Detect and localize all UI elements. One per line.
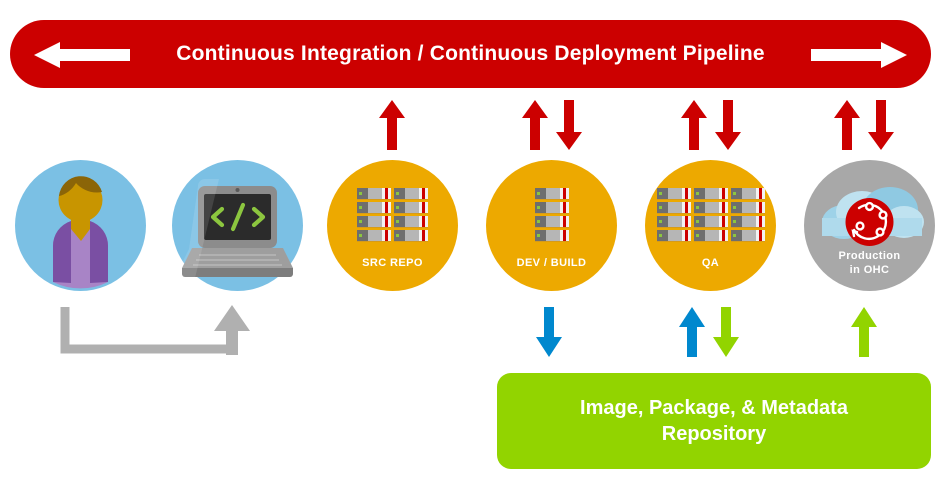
arrow-down-qa [715,100,741,150]
node-qa[interactable]: QA [645,160,776,291]
node-src-repo[interactable]: SRC REPO [327,160,458,291]
node-developer[interactable] [15,160,146,291]
arrow-up-production [834,100,860,150]
node-label-qa: QA [645,257,776,270]
arrow-down-repository-to-qa [713,307,739,357]
node-production[interactable]: Production in OHC [804,160,935,291]
arrow-down-production [868,100,894,150]
server-rack-icon [486,188,617,242]
node-workstation[interactable] [172,160,303,291]
person-icon [15,160,146,291]
cicd-pipeline-diagram: Continuous Integration / Continuous Depl… [0,0,941,500]
pipeline-banner: Continuous Integration / Continuous Depl… [10,20,931,88]
repository-label: Image, Package, & Metadata Repository [556,395,872,447]
node-label-src-repo: SRC REPO [327,257,458,270]
repository-label-line1: Image, Package, & Metadata [580,397,848,419]
arrow-up-src-repo [379,100,405,150]
node-label-production-line1: Production [804,250,935,263]
repository-label-line2: Repository [662,423,766,445]
node-dev-build[interactable]: DEV / BUILD [486,160,617,291]
arrow-up-dev-build [522,100,548,150]
server-rack-icon [645,188,776,242]
arrow-up-qa [681,100,707,150]
node-label-production-line2: in OHC [804,264,935,277]
arrow-up-repository-to-production [851,307,877,357]
repository-box[interactable]: Image, Package, & Metadata Repository [497,373,931,469]
node-label-dev-build: DEV / BUILD [486,257,617,270]
server-rack-icon [327,188,458,242]
laptop-code-icon [172,160,303,291]
arrow-down-dev-build-to-repository [536,307,562,357]
arrow-down-dev-build [556,100,582,150]
arrow-up-qa-to-repository [679,307,705,357]
pipeline-banner-title: Continuous Integration / Continuous Depl… [10,20,931,88]
developer-to-workstation-connector [60,305,260,360]
